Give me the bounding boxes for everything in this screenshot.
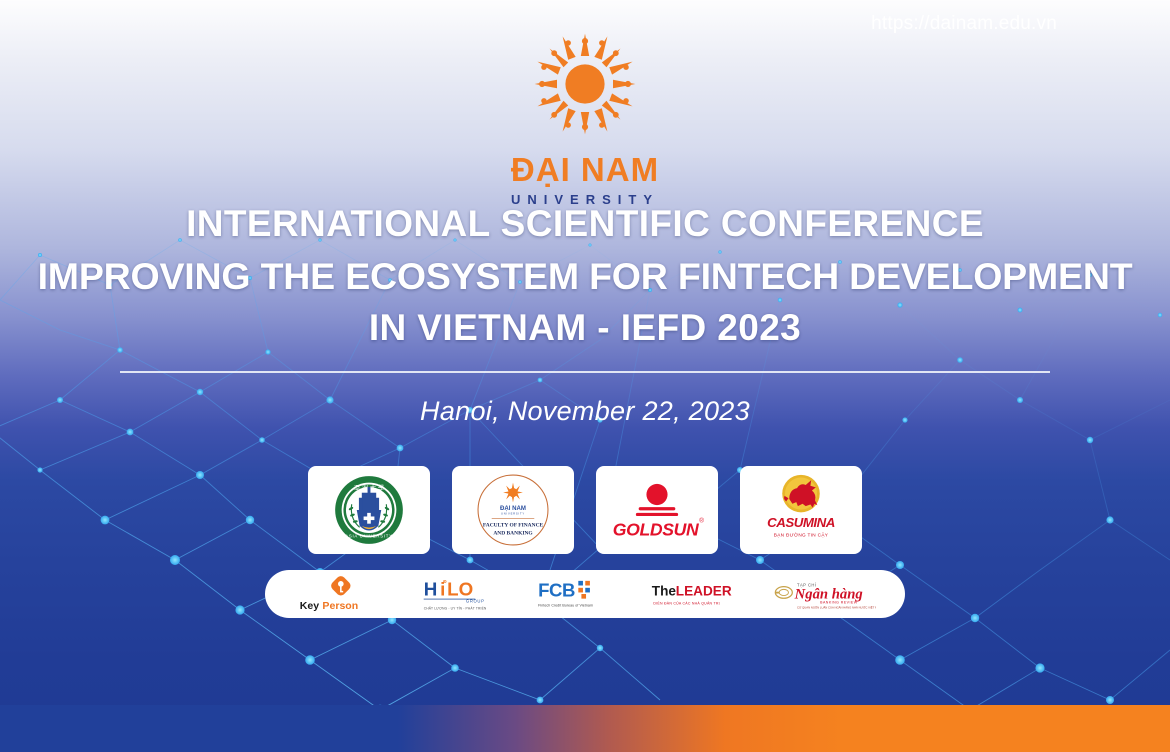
dainam-logo-block: ĐẠI NAM UNIVERSITY xyxy=(0,28,1170,206)
svg-text:GROUP: GROUP xyxy=(466,599,485,604)
svg-text:BẠN ĐƯỜNG TIN CẬY: BẠN ĐƯỜNG TIN CẬY xyxy=(774,532,829,538)
svg-text:UNIVERSITY: UNIVERSITY xyxy=(501,512,525,516)
title-line-3: IN VIETNAM - IEFD 2023 xyxy=(0,302,1170,354)
title-line-1: INTERNATIONAL SCIENTIFIC CONFERENCE xyxy=(0,198,1170,250)
sponsor-card-asia-university[interactable]: 亞 洲 大 學 ASIA UNIVERSITY xyxy=(308,466,430,554)
tap-chi-ngan-hang-logo-icon: TẠP CHÍ Ngân hàng BANKING REVIEW CƠ QUAN… xyxy=(772,577,876,611)
sunburst-icon xyxy=(529,28,641,140)
partner-fcb[interactable]: FCB Fintech Credit Bureau of Vietnam xyxy=(535,577,617,611)
sponsor-card-dainam-faculty[interactable]: ĐẠI NAM UNIVERSITY FACULTY OF FINANCE AN… xyxy=(452,466,574,554)
title-line-2: IMPROVING THE ECOSYSTEM FOR FINTECH DEVE… xyxy=(0,250,1170,302)
svg-text:LEADER: LEADER xyxy=(675,584,731,599)
footer-bar xyxy=(0,705,1170,752)
svg-text:ASIA UNIVERSITY: ASIA UNIVERSITY xyxy=(345,533,392,538)
asia-university-logo-icon: 亞 洲 大 學 ASIA UNIVERSITY xyxy=(333,474,405,546)
svg-text:ĐẠI NAM: ĐẠI NAM xyxy=(500,505,526,512)
svg-text:Person: Person xyxy=(322,600,358,612)
svg-text:The: The xyxy=(651,584,676,599)
svg-text:FCB: FCB xyxy=(538,579,575,600)
dainam-faculty-logo-icon: ĐẠI NAM UNIVERSITY FACULTY OF FINANCE AN… xyxy=(475,472,551,548)
title-divider xyxy=(120,371,1050,373)
sponsor-card-casumina[interactable]: CASUMINA BẠN ĐƯỜNG TIN CẬY xyxy=(740,466,862,554)
svg-text:CHẤT LƯỢNG - UY TÍN - PHÁT TRI: CHẤT LƯỢNG - UY TÍN - PHÁT TRIỂN xyxy=(424,606,487,611)
sponsor-card-goldsun[interactable]: GOLDSUN ® xyxy=(596,466,718,554)
hilo-group-logo-icon: H i LO Đ GROUP CHẤT LƯỢNG - UY TÍN - PHÁ… xyxy=(419,575,505,613)
svg-text:®: ® xyxy=(699,517,704,525)
event-date-location: Hanoi, November 22, 2023 xyxy=(0,396,1170,427)
university-name: ĐẠI NAM xyxy=(0,153,1170,186)
svg-text:GOLDSUN: GOLDSUN xyxy=(613,519,700,539)
svg-text:H: H xyxy=(424,579,438,600)
svg-text:AND BANKING: AND BANKING xyxy=(493,530,533,536)
partner-hilo-group[interactable]: H i LO Đ GROUP CHẤT LƯỢNG - UY TÍN - PHÁ… xyxy=(419,575,505,613)
website-url[interactable]: https://dainam.edu.vn xyxy=(871,0,1057,47)
partner-logo-strip: Key Person H i LO Đ GROUP CHẤT LƯỢNG - U… xyxy=(265,570,905,618)
svg-text:LO: LO xyxy=(448,579,474,600)
svg-text:CASUMINA: CASUMINA xyxy=(767,515,835,530)
partner-keyperson[interactable]: Key Person xyxy=(294,576,390,612)
keyperson-logo-icon: Key Person xyxy=(294,576,390,612)
svg-text:Fintech Credit Bureau of Vietn: Fintech Credit Bureau of Vietnam xyxy=(538,603,593,607)
fcb-logo-icon: FCB Fintech Credit Bureau of Vietnam xyxy=(535,577,617,611)
goldsun-logo-icon: GOLDSUN ® xyxy=(607,479,707,541)
svg-text:BANKING REVIEW: BANKING REVIEW xyxy=(820,600,858,604)
svg-text:FACULTY OF FINANCE: FACULTY OF FINANCE xyxy=(483,523,544,529)
svg-text:DIỄN ĐÀN CỦA CÁC NHÀ QUẢN TRỊ: DIỄN ĐÀN CỦA CÁC NHÀ QUẢN TRỊ xyxy=(653,600,719,605)
casumina-logo-icon: CASUMINA BẠN ĐƯỜNG TIN CẬY xyxy=(758,472,844,548)
sponsor-card-row: 亞 洲 大 學 ASIA UNIVERSITY xyxy=(0,466,1170,554)
conference-banner: ĐẠI NAM UNIVERSITY INTERNATIONAL SCIENTI… xyxy=(0,0,1170,752)
theleader-logo-icon: The LEADER DIỄN ĐÀN CỦA CÁC NHÀ QUẢN TRỊ xyxy=(647,578,743,610)
svg-text:CƠ QUAN NGÔN LUẬN CỦA NGÂN HÀN: CƠ QUAN NGÔN LUẬN CỦA NGÂN HÀNG NHÀ NƯỚC… xyxy=(797,605,876,610)
partner-tap-chi-ngan-hang[interactable]: TẠP CHÍ Ngân hàng BANKING REVIEW CƠ QUAN… xyxy=(772,577,876,611)
conference-title: INTERNATIONAL SCIENTIFIC CONFERENCE IMPR… xyxy=(0,198,1170,354)
partner-theleader[interactable]: The LEADER DIỄN ĐÀN CỦA CÁC NHÀ QUẢN TRỊ xyxy=(647,578,743,610)
svg-text:Key: Key xyxy=(300,600,319,612)
